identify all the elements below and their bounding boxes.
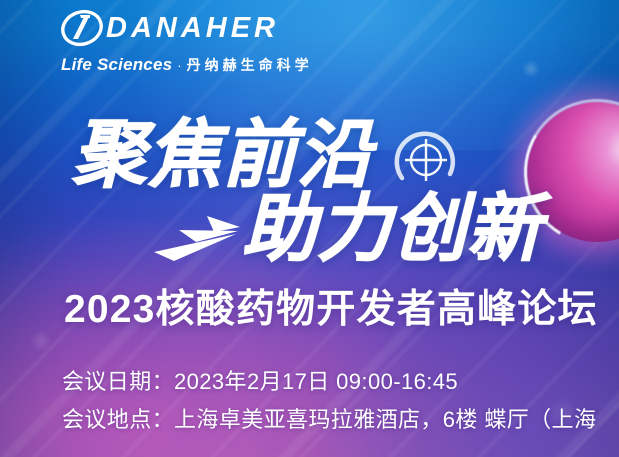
tagline-chinese: 丹纳赫生命科学 [187, 55, 313, 75]
event-info-block: 会议日期：2023年2月17日 09:00-16:45 会议地点：上海卓美亚喜玛… [62, 363, 619, 439]
event-banner: DANAHER Life Sciences · 丹纳赫生命科学 聚焦前沿 助力创… [0, 0, 619, 457]
headline-block: 聚焦前沿 助力创新 [0, 112, 619, 277]
tagline-separator: · [177, 58, 181, 73]
crosshair-target-icon [392, 126, 460, 194]
headline-line-1: 聚焦前沿 [72, 118, 372, 192]
headline-line-2: 助力创新 [242, 192, 542, 266]
danaher-wordmark: DANAHER [106, 14, 279, 43]
event-venue-line: 会议地点：上海卓美亚喜玛拉雅酒店，6楼 蝶厅（上海 [62, 401, 619, 439]
event-date-line: 会议日期：2023年2月17日 09:00-16:45 [62, 363, 619, 401]
speed-arrow-icon [152, 212, 244, 266]
bokeh-dot [522, 60, 540, 78]
logo-primary-row: DANAHER [60, 6, 360, 50]
event-subtitle: 2023核酸药物开发者高峰论坛 [64, 289, 598, 332]
tagline-english: Life Sciences [61, 55, 172, 75]
bokeh-dot [30, 330, 52, 352]
logo-tagline: Life Sciences · 丹纳赫生命科学 [61, 55, 360, 75]
danaher-logo: DANAHER Life Sciences · 丹纳赫生命科学 [60, 6, 360, 75]
danaher-d-monogram-icon [60, 8, 104, 48]
